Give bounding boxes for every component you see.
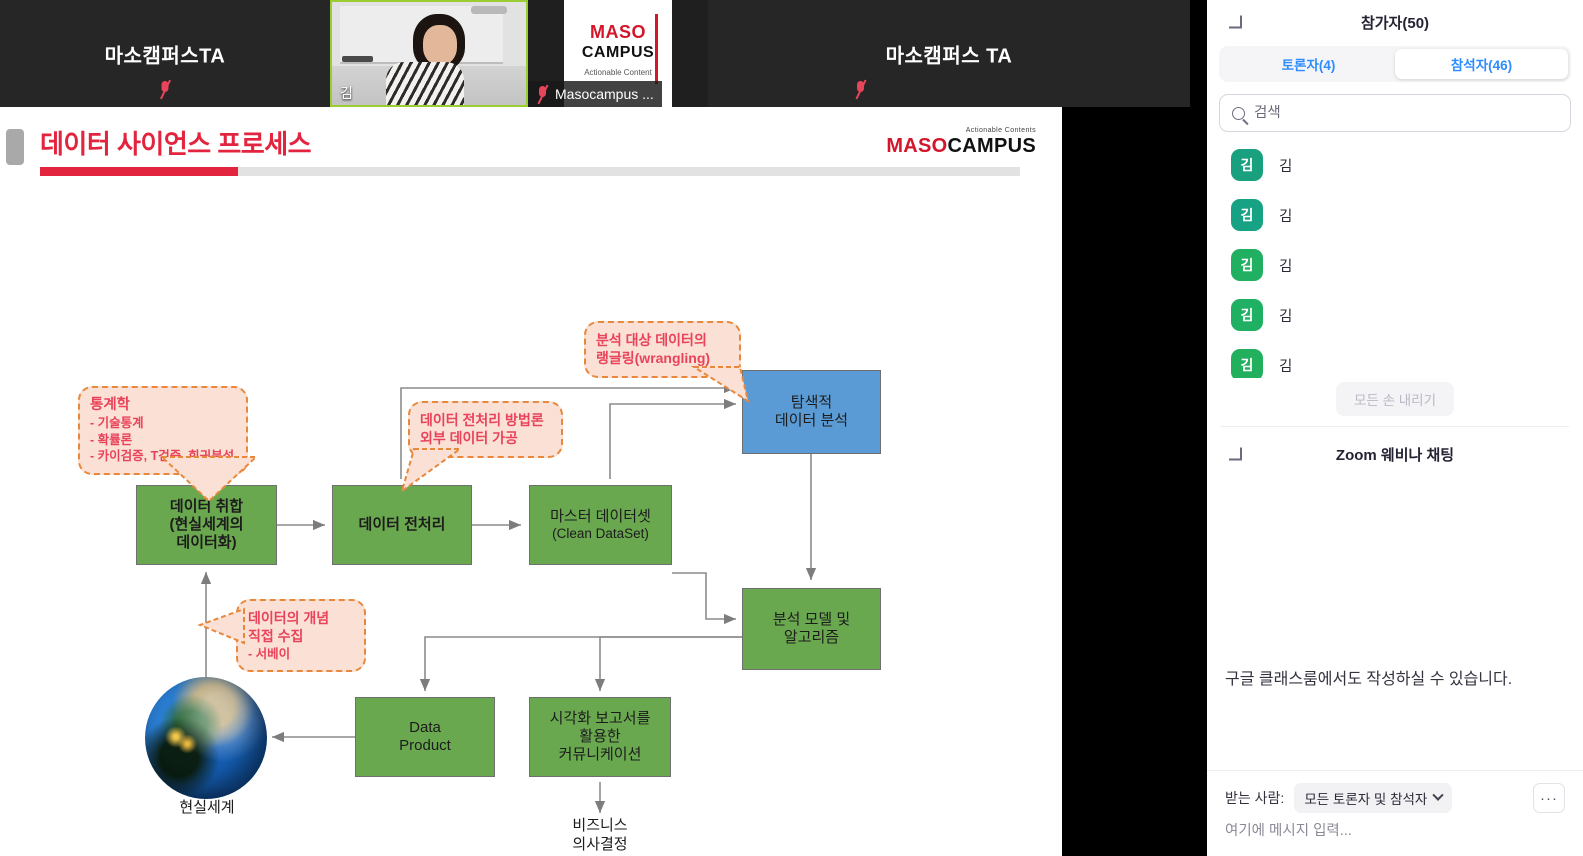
chat-header: Zoom 웨비나 채팅	[1207, 427, 1583, 481]
video-tile-name: Masocampus ...	[555, 86, 654, 102]
video-tile-name: 마소캠퍼스TA	[0, 39, 330, 68]
video-tile-participant-1[interactable]: 마소캠퍼스TA	[0, 0, 330, 107]
participants-title: 참가자(50)	[1207, 12, 1583, 33]
participant-name: 김	[1279, 155, 1292, 176]
node-exploratory-analysis[interactable]: 탐색적 데이터 분석	[742, 370, 881, 454]
earth-globe-image	[145, 677, 267, 799]
search-input[interactable]	[1254, 105, 1558, 121]
participant-name: 김	[1279, 255, 1292, 276]
callout-data-concept: 데이터의 개념 직접 수집 - 서베이	[236, 599, 366, 672]
node-line1: 탐색적	[791, 394, 832, 412]
chevron-down-icon[interactable]	[1229, 16, 1242, 29]
node-visual-communication[interactable]: 시각화 보고서를 활용한 커뮤니케이션	[529, 697, 671, 777]
callout-text-line2: 외부 데이터 가공	[420, 429, 551, 447]
video-filmstrip: 마소캠퍼스TA 김 MASOCAMPUS Actionable Content …	[0, 0, 1190, 107]
participant-name: 김	[1279, 205, 1292, 226]
chat-recipient-row: 받는 사람: 모든 토론자 및 참석자 ···	[1225, 783, 1565, 813]
app-root: 마소캠퍼스TA 김 MASOCAMPUS Actionable Content …	[0, 0, 1583, 856]
callout-data-concept-tail	[196, 603, 248, 649]
data-science-process-diagram: 데이터 취합 (현실세계의 데이터화) 데이터 전처리 마스터 데이터셋 (Cl…	[0, 107, 1062, 856]
chat-recipient-select[interactable]: 모든 토론자 및 참석자	[1294, 783, 1452, 813]
node-line1: 분석 모델 및	[773, 611, 850, 629]
lower-all-hands-row: 모든 손 내리기	[1207, 378, 1583, 426]
label-business-decision: 비즈니스 의사결정	[540, 817, 660, 855]
node-line2: (Clean DataSet)	[552, 526, 649, 542]
list-item[interactable]: 김 김	[1207, 240, 1583, 290]
node-data-product[interactable]: Data Product	[355, 697, 495, 777]
callout-statistics-tail	[160, 455, 260, 503]
video-tile-active-speaker[interactable]: 김	[330, 0, 528, 107]
video-tile-masocampus[interactable]: MASOCAMPUS Actionable Content Masocampus…	[528, 0, 708, 107]
chat-message: 구글 클래스룸에서도 작성하실 수 있습니다.	[1225, 667, 1565, 693]
callout-text-line1: 분석 대상 데이터의	[596, 331, 729, 349]
callout-wrangling-tail	[690, 365, 760, 405]
node-line1: 마스터 데이터셋	[550, 508, 651, 526]
chat-input[interactable]	[1225, 823, 1565, 839]
node-preprocessing[interactable]: 데이터 전처리	[332, 485, 472, 565]
node-line3: 데이터화)	[176, 534, 236, 552]
list-item[interactable]: 김 김	[1207, 140, 1583, 190]
avatar: 김	[1231, 249, 1263, 281]
list-item[interactable]: 김 김	[1207, 340, 1583, 378]
callout-heading: 통계학	[90, 396, 236, 415]
node-line2: (현실세계의	[170, 516, 244, 534]
label-line1: 현실세계	[146, 799, 268, 818]
video-tile-name: 김	[340, 83, 353, 103]
callout-text-line1: 데이터 전처리 방법론	[420, 411, 551, 429]
node-line2: 알고리즘	[784, 629, 839, 647]
participants-header: 참가자(50)	[1207, 0, 1583, 44]
callout-text-line2: 직접 수집	[248, 627, 354, 645]
shared-slide: 데이터 사이언스 프로세스 Actionable Contents MASOCA…	[0, 107, 1062, 856]
video-tile-namebar: Masocampus ...	[528, 81, 662, 107]
participants-tabs: 토론자(4) 참석자(46)	[1219, 46, 1571, 82]
participant-name: 김	[1279, 355, 1292, 376]
node-line2: 활용한	[579, 728, 620, 746]
label-line1: 비즈니스	[540, 817, 660, 836]
tab-attendees[interactable]: 참석자(46)	[1395, 49, 1568, 79]
video-tile-name: 마소캠퍼스 TA	[708, 39, 1190, 68]
node-line1: Data	[409, 719, 441, 737]
node-line3: 커뮤니케이션	[559, 746, 642, 764]
label-real-world: 현실세계	[146, 799, 268, 818]
callout-text-line3: - 서베이	[248, 646, 354, 663]
node-line1: 데이터 전처리	[359, 516, 446, 534]
node-line2: Product	[399, 737, 451, 755]
video-tile-participant-4[interactable]: 마소캠퍼스 TA	[708, 0, 1190, 107]
list-item[interactable]: 김 김	[1207, 290, 1583, 340]
participant-name: 김	[1279, 305, 1292, 326]
avatar: 김	[1231, 199, 1263, 231]
zoom-side-panel: 참가자(50) 토론자(4) 참석자(46) 김 김 김 김 김 김 김	[1207, 0, 1583, 856]
avatar: 김	[1231, 349, 1263, 378]
chat-to-label: 받는 사람:	[1225, 788, 1284, 808]
callout-preprocessing-tail	[396, 447, 476, 495]
meeting-stage: 마소캠퍼스TA 김 MASOCAMPUS Actionable Content …	[0, 0, 1190, 856]
participant-list[interactable]: 김 김 김 김 김 김 김 김 김 김	[1207, 140, 1583, 378]
avatar: 김	[1231, 299, 1263, 331]
ellipsis-icon[interactable]: ···	[1533, 783, 1565, 813]
search-icon	[1232, 107, 1245, 120]
chat-composer: 받는 사람: 모든 토론자 및 참석자 ···	[1207, 770, 1583, 856]
callout-item: - 확률론	[90, 432, 236, 449]
lower-all-hands-button[interactable]: 모든 손 내리기	[1336, 382, 1454, 416]
list-item[interactable]: 김 김	[1207, 190, 1583, 240]
mic-off-icon	[536, 85, 549, 103]
chat-title: Zoom 웨비나 채팅	[1207, 444, 1583, 465]
node-line1: 시각화 보고서를	[550, 710, 651, 728]
chevron-down-icon[interactable]	[1229, 448, 1242, 461]
chat-messages[interactable]: 구글 클래스룸에서도 작성하실 수 있습니다.	[1207, 481, 1583, 770]
chevron-down-icon	[1433, 790, 1444, 801]
participant-search[interactable]	[1219, 94, 1571, 132]
node-line2: 데이터 분석	[775, 412, 848, 430]
node-master-dataset[interactable]: 마스터 데이터셋 (Clean DataSet)	[529, 485, 672, 565]
webcam-video	[332, 2, 526, 105]
label-line2: 의사결정	[540, 836, 660, 855]
avatar: 김	[1231, 149, 1263, 181]
callout-item: - 기술통계	[90, 415, 236, 432]
callout-text-line1: 데이터의 개념	[248, 609, 354, 627]
tab-panelists[interactable]: 토론자(4)	[1222, 49, 1395, 79]
mic-off-icon	[159, 80, 172, 103]
chat-recipient-value: 모든 토론자 및 참석자	[1304, 788, 1427, 808]
node-model-algorithm[interactable]: 분석 모델 및 알고리즘	[742, 588, 881, 670]
mic-off-icon	[854, 80, 867, 103]
